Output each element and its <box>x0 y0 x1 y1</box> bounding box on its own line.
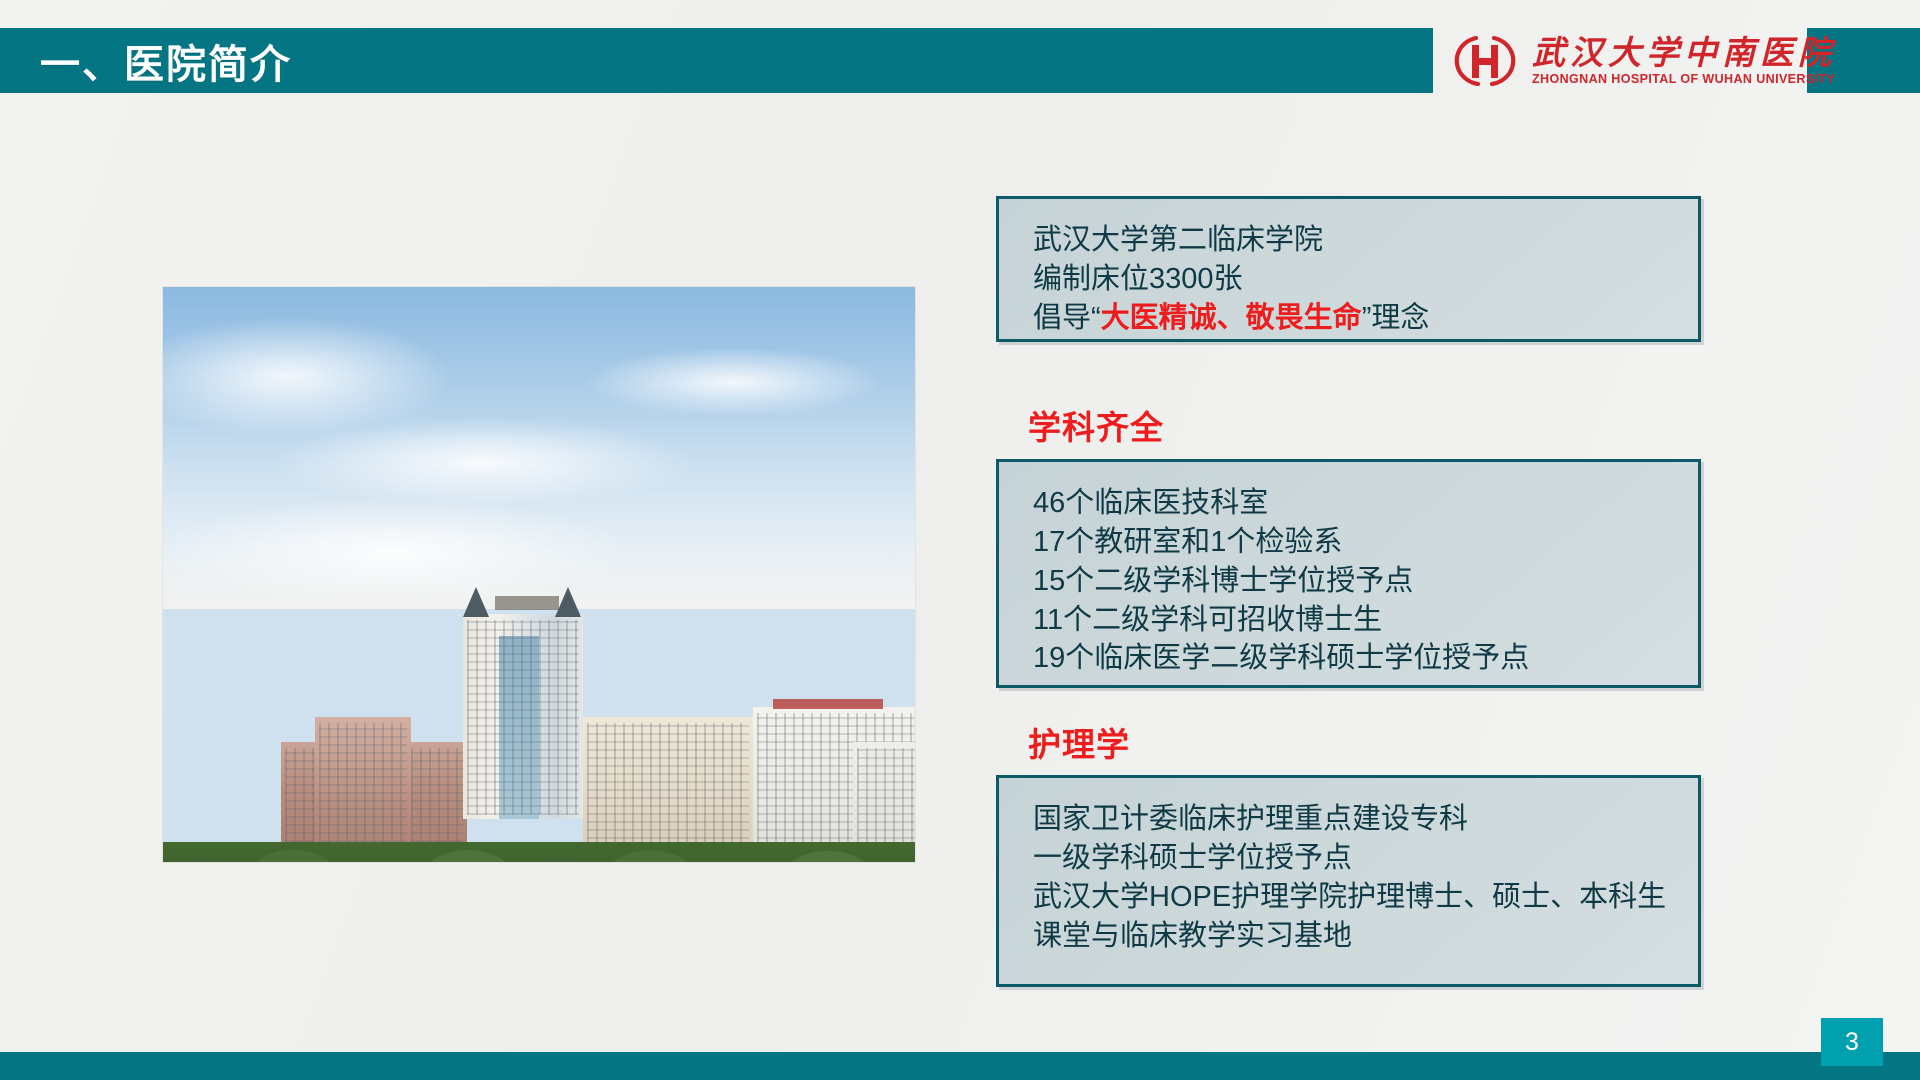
info-box-disciplines: 46个临床医技科室 17个教研室和1个检验系 15个二级学科博士学位授予点 11… <box>996 459 1701 688</box>
photo-building-beige <box>583 717 753 862</box>
section-heading-disciplines: 学科齐全 <box>1028 401 1164 449</box>
nursing-line-1: 国家卫计委临床护理重点建设专科 <box>1033 800 1672 839</box>
hospital-campus-photo <box>163 287 915 862</box>
nursing-line-3: 武汉大学HOPE护理学院护理博士、硕士、本科生课堂与临床教学实习基地 <box>1033 878 1672 956</box>
info-box-overview: 武汉大学第二临床学院 编制床位3300张 倡导“大医精诚、敬畏生命”理念 <box>996 196 1701 342</box>
photo-building-brick <box>315 717 411 862</box>
photo-tower-rooftop-sign <box>495 596 559 610</box>
disciplines-line-2: 17个教研室和1个检验系 <box>1033 523 1698 562</box>
photo-tree-line <box>163 842 915 862</box>
footer-bar <box>0 1052 1920 1080</box>
photo-building-sign <box>773 699 883 709</box>
photo-cloud <box>583 347 883 417</box>
hospital-logo: 武汉大学中南医院 ZHONGNAN HOSPITAL OF WUHAN UNIV… <box>1452 26 1822 96</box>
slide-canvas: 一、医院简介 武汉大学中南医院 ZHONGNAN HOSPITAL OF WUH… <box>0 0 1920 1080</box>
overview-line-3: 倡导“大医精诚、敬畏生命”理念 <box>1033 299 1698 338</box>
logo-text: 武汉大学中南医院 ZHONGNAN HOSPITAL OF WUHAN UNIV… <box>1532 36 1836 87</box>
header-bar: 一、医院简介 <box>0 28 1433 93</box>
zhongnan-h-monogram-icon <box>1452 32 1518 90</box>
disciplines-line-3: 15个二级学科博士学位授予点 <box>1033 562 1698 601</box>
photo-tower-spire <box>463 587 489 617</box>
page-title: 一、医院简介 <box>40 32 292 90</box>
disciplines-line-4: 11个二级学科可招收博士生 <box>1033 601 1698 640</box>
page-number-badge: 3 <box>1821 1018 1883 1066</box>
disciplines-line-5: 19个临床医学二级学科硕士学位授予点 <box>1033 639 1698 678</box>
overview-line-3-prefix: 倡导“ <box>1033 302 1101 334</box>
overview-line-2: 编制床位3300张 <box>1033 260 1698 299</box>
info-box-nursing: 国家卫计委临床护理重点建设专科 一级学科硕士学位授予点 武汉大学HOPE护理学院… <box>996 775 1701 987</box>
section-heading-nursing: 护理学 <box>1028 718 1130 766</box>
logo-english-name: ZHONGNAN HOSPITAL OF WUHAN UNIVERSITY <box>1532 72 1836 86</box>
overview-line-3-highlight: 大医精诚、敬畏生命 <box>1101 302 1362 334</box>
overview-line-1: 武汉大学第二临床学院 <box>1033 221 1698 260</box>
photo-cloud <box>273 417 693 507</box>
overview-line-3-suffix: ”理念 <box>1362 302 1430 334</box>
photo-building-tower <box>463 614 583 819</box>
nursing-line-2: 一级学科硕士学位授予点 <box>1033 839 1672 878</box>
logo-chinese-name: 武汉大学中南医院 <box>1532 36 1836 70</box>
disciplines-line-1: 46个临床医技科室 <box>1033 484 1698 523</box>
